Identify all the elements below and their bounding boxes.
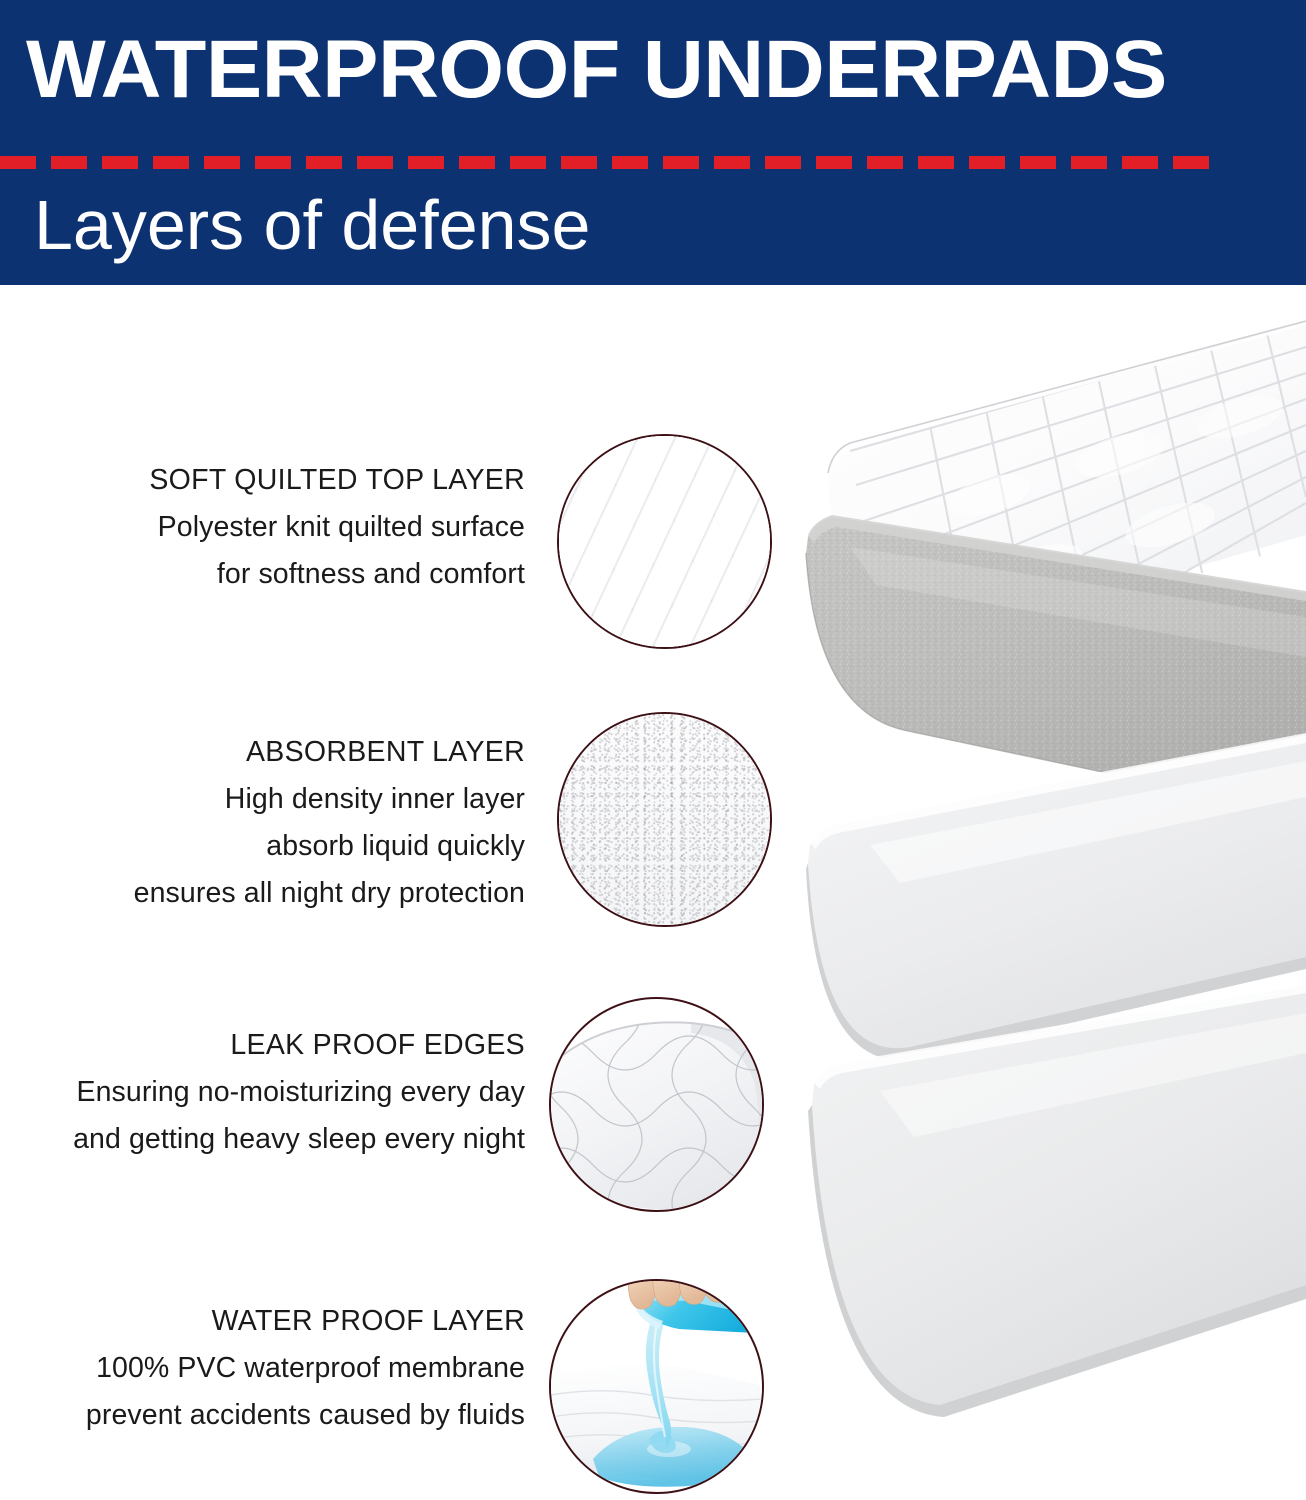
feature-heading: LEAK PROOF EDGES (0, 1022, 525, 1069)
feature-text-block: WATER PROOF LAYER 100% PVC waterproof me… (0, 1298, 525, 1439)
page-subtitle: Layers of defense (34, 186, 590, 264)
layer-stack-svg (790, 285, 1306, 1500)
quilted-texture-icon (557, 434, 772, 649)
feature-line: absorb liquid quickly (0, 823, 525, 870)
dashed-divider (0, 156, 1210, 169)
feature-line: prevent accidents caused by fluids (0, 1392, 525, 1439)
quilted-pad-corner-icon (549, 997, 764, 1212)
pouring-liquid-icon (549, 1279, 764, 1494)
feature-heading: SOFT QUILTED TOP LAYER (0, 457, 525, 504)
feature-line: for softness and comfort (0, 551, 525, 598)
fibre-texture-icon (557, 712, 772, 927)
feature-heading: ABSORBENT LAYER (0, 729, 525, 776)
exploded-layer-illustration (790, 285, 1306, 1500)
feature-text-block: SOFT QUILTED TOP LAYER Polyester knit qu… (0, 457, 525, 598)
swatch-quilted-fabric-closeup (557, 434, 772, 649)
feature-line: Polyester knit quilted surface (0, 504, 525, 551)
swatch-waterproof-pour-test-closeup (549, 1279, 764, 1494)
feature-line: and getting heavy sleep every night (0, 1116, 525, 1163)
feature-line: ensures all night dry protection (0, 870, 525, 917)
swatch-absorbent-fibre-closeup (557, 712, 772, 927)
feature-text-block: LEAK PROOF EDGES Ensuring no-moisturizin… (0, 1022, 525, 1163)
feature-heading: WATER PROOF LAYER (0, 1298, 525, 1345)
page-title: WATERPROOF UNDERPADS (26, 26, 1306, 114)
feature-line: 100% PVC waterproof membrane (0, 1345, 525, 1392)
header-banner: WATERPROOF UNDERPADS Layers of defense (0, 0, 1306, 285)
infographic-page: WATERPROOF UNDERPADS Layers of defense S… (0, 0, 1306, 1500)
feature-text-block: ABSORBENT LAYER High density inner layer… (0, 729, 525, 917)
feature-line: Ensuring no-moisturizing every day (0, 1069, 525, 1116)
feature-line: High density inner layer (0, 776, 525, 823)
swatch-leak-proof-edge-closeup (549, 997, 764, 1212)
